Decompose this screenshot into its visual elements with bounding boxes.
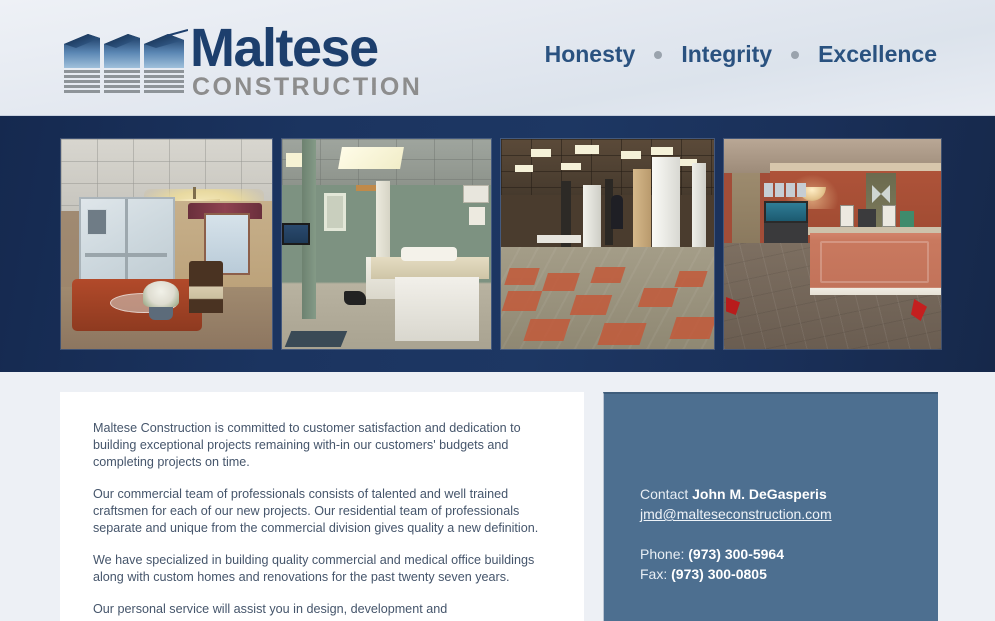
contact-fax-line: Fax: (973) 300-0805 xyxy=(640,564,922,584)
bullet-dot-icon xyxy=(791,51,799,59)
contact-phone-line: Phone: (973) 300-5964 xyxy=(640,544,922,564)
about-paragraph-2: Our commercial team of professionals con… xyxy=(93,486,552,537)
main-content: Maltese Construction is committed to cus… xyxy=(0,372,995,621)
header-tagline: Honesty Integrity Excellence xyxy=(545,41,937,68)
hero-banner: EXIT xyxy=(0,116,995,372)
project-photo-lobby[interactable]: EXIT xyxy=(60,138,273,350)
tagline-item-excellence: Excellence xyxy=(818,41,937,68)
building-roofline-icon xyxy=(62,28,188,94)
fax-label: Fax: xyxy=(640,566,671,582)
about-paragraph-4: Our personal service will assist you in … xyxy=(93,601,552,618)
about-paragraph-1: Maltese Construction is committed to cus… xyxy=(93,420,552,471)
project-photo-reception[interactable] xyxy=(723,138,942,350)
contact-email-link[interactable]: jmd@malteseconstruction.com xyxy=(640,504,832,524)
about-paragraph-3: We have specialized in building quality … xyxy=(93,552,552,586)
logo-wordmark: Maltese CONSTRUCTION xyxy=(190,22,462,98)
project-photo-fitness-center[interactable] xyxy=(500,138,715,350)
tagline-item-integrity: Integrity xyxy=(681,41,772,68)
site-header: Maltese CONSTRUCTION Honesty Integrity E… xyxy=(0,0,995,116)
logo-name-secondary: CONSTRUCTION xyxy=(192,74,422,100)
tagline-item-honesty: Honesty xyxy=(545,41,636,68)
contact-label: Contact xyxy=(640,486,692,502)
contact-spacer xyxy=(640,524,922,544)
phone-label: Phone: xyxy=(640,546,688,562)
about-copy-card: Maltese Construction is committed to cus… xyxy=(60,392,584,621)
bullet-dot-icon xyxy=(654,51,662,59)
project-photo-exam-room[interactable] xyxy=(281,138,492,350)
contact-person-name: John M. DeGasperis xyxy=(692,486,827,502)
contact-name-line: Contact John M. DeGasperis xyxy=(640,484,922,504)
site-logo[interactable]: Maltese CONSTRUCTION xyxy=(62,22,462,98)
logo-name-primary: Maltese xyxy=(190,20,378,76)
contact-panel: Contact John M. DeGasperis jmd@malteseco… xyxy=(603,392,938,621)
project-photo-strip: EXIT xyxy=(60,138,942,350)
fax-number: (973) 300-0805 xyxy=(671,566,767,582)
phone-number: (973) 300-5964 xyxy=(688,546,784,562)
